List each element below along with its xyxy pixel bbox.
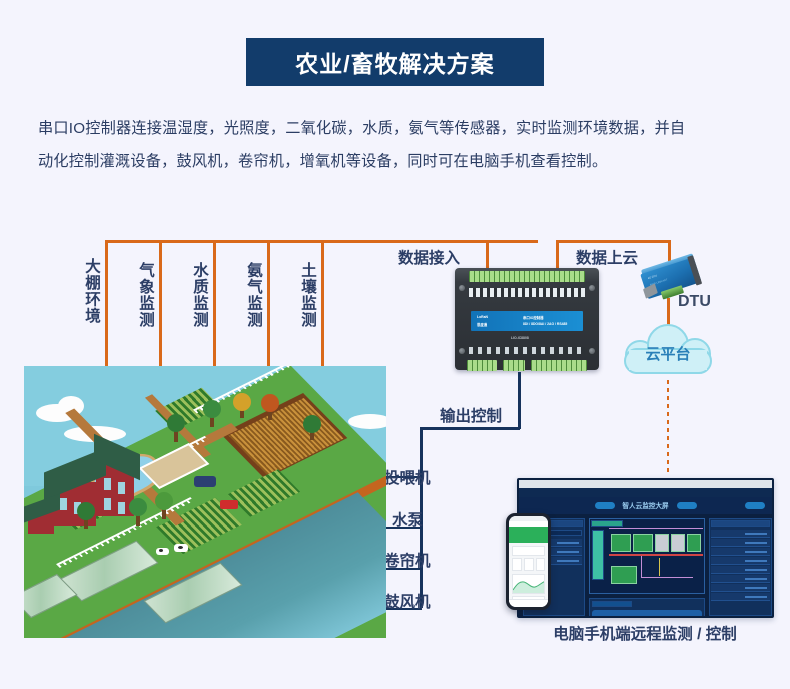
- data-access-text: 数据接入: [398, 250, 460, 267]
- scada-tank-1: [611, 534, 631, 552]
- output-control-line-vertical: [518, 372, 521, 401]
- controller-panel-sub: 8DI / 8DO/8AI / 2AO / RS485: [523, 322, 567, 326]
- dashboard-nav-pill-1[interactable]: [595, 502, 615, 509]
- terminal-block-bottom-right: [531, 360, 587, 371]
- cow-2-spot: [178, 546, 183, 549]
- blower-text: 鼓风机: [384, 594, 431, 611]
- data-access-riser: [336, 240, 339, 243]
- scada-toolbar: [591, 520, 623, 527]
- terminal-block-top: [469, 271, 585, 282]
- dashboard-alarm-row[interactable]: [711, 539, 770, 547]
- page-title-banner: 农业/畜牧解决方案: [246, 38, 544, 86]
- farm-illustration: [24, 366, 386, 638]
- output-control-line-corner-v: [518, 401, 521, 429]
- phone-metric-card: [512, 558, 522, 571]
- terminal-block-bottom-mid: [503, 360, 525, 371]
- intro-line-2: 动化控制灌溉设备，鼓风机，卷帘机，增氧机等设备，同时可在电脑手机查看控制。: [38, 145, 760, 178]
- dashboard-alarm-row[interactable]: [711, 575, 770, 583]
- intro-line-1: 串口IO控制器连接温湿度，光照度，二氧化碳，水质，氨气等传感器，实时监测环境数据…: [38, 112, 760, 145]
- scada-pipe-purple-1: [609, 528, 703, 529]
- dashboard-alarm-row[interactable]: [711, 548, 770, 556]
- tree-top-4: [261, 394, 279, 412]
- label-output-control: 输出控制: [440, 404, 502, 426]
- led-indicator-row: [469, 288, 585, 297]
- controller-model: LIO-IC8808: [511, 336, 529, 340]
- label-data-to-cloud: 数据上云: [576, 246, 638, 268]
- dashboard-right-panel-header: [711, 520, 770, 527]
- scada-tank-pond: [611, 566, 637, 584]
- phone-screen: [509, 516, 548, 607]
- mounting-screw-top-right: [589, 285, 595, 291]
- data-to-cloud-text: 数据上云: [576, 250, 638, 267]
- sensor-label-text: 水质监测: [191, 262, 208, 328]
- led-indicator-row-bottom: [469, 347, 585, 354]
- sidebar-item-water-quality-monitoring[interactable]: 水质监测: [190, 262, 209, 367]
- mobile-phone-device[interactable]: [506, 513, 551, 610]
- dashboard-alarm-row[interactable]: [711, 566, 770, 574]
- farmhouse-window-1: [60, 498, 67, 510]
- phone-area-chart-svg: [513, 575, 545, 594]
- dtu-body-text: 4G DTU: [648, 274, 658, 280]
- roller-blind-text: 卷帘机: [384, 553, 431, 570]
- sensor-label-text: 氨气监测: [245, 262, 262, 328]
- scada-pipe-yellow: [659, 558, 660, 576]
- dashboard-alarm-row[interactable]: [711, 593, 770, 601]
- tree-top-7: [155, 492, 173, 510]
- output-control-text: 输出控制: [440, 408, 502, 425]
- dtu-label-text: DTU: [678, 293, 711, 310]
- cow-1-spot: [159, 549, 163, 552]
- browser-url-bar: [519, 488, 772, 497]
- scada-tank-4: [671, 534, 685, 552]
- scada-tank-2: [633, 534, 653, 552]
- controller-brand-cn: 思度通: [477, 322, 487, 327]
- intro-paragraph: 串口IO控制器连接温湿度，光照度，二氧化碳，水质，氨气等传感器，实时监测环境数据…: [38, 112, 760, 178]
- phone-info-card: [512, 546, 545, 556]
- dashboard-alarm-row[interactable]: [711, 584, 770, 592]
- phone-app-header: [509, 527, 548, 543]
- dashboard-bottom-toolbar[interactable]: [592, 601, 632, 607]
- phone-metric-card: [524, 558, 534, 571]
- scada-pipe-purple-2: [641, 556, 642, 578]
- sensor-label-text: 气象监测: [137, 262, 154, 328]
- label-blower[interactable]: 鼓风机: [384, 590, 431, 612]
- data-access-line-horizontal: [378, 240, 538, 243]
- tractor: [220, 500, 238, 509]
- sidebar-item-weather-monitoring[interactable]: 气象监测: [136, 262, 155, 367]
- car-parked: [194, 476, 216, 487]
- mounting-screw-top-left: [459, 285, 465, 291]
- water-pump-text: 水泵: [392, 512, 423, 529]
- label-water-pump[interactable]: 水泵: [392, 508, 423, 530]
- farmhouse-window-4: [118, 482, 125, 494]
- phone-metric-card: [536, 558, 545, 571]
- cloud-to-monitor-dotted-line: [667, 380, 669, 476]
- dashboard-alarm-row[interactable]: [711, 530, 770, 538]
- scada-pipe-purple-3: [641, 577, 693, 578]
- phone-trend-chart: [512, 574, 545, 594]
- tree-top-1: [167, 414, 185, 432]
- scada-pipe-red: [609, 554, 703, 556]
- terminal-block-bottom-left: [467, 360, 497, 371]
- page-title: 农业/畜牧解决方案: [295, 45, 494, 79]
- label-data-access: 数据接入: [398, 246, 460, 268]
- sensor-label-text: 土壤监测: [299, 262, 316, 328]
- farmhouse-window-5: [104, 498, 111, 510]
- label-feeder[interactable]: 投喂机: [384, 466, 431, 488]
- cloud-platform-shape[interactable]: 云平台: [621, 322, 715, 378]
- dashboard-nav-pill-3[interactable]: [745, 502, 765, 509]
- output-control-line-corner-h: [420, 427, 520, 430]
- dashboard-monitor[interactable]: 智人云监控大屏: [517, 478, 774, 618]
- tree-top-6: [129, 498, 147, 516]
- dashboard-scada-panel: [589, 518, 705, 594]
- label-roller-blind[interactable]: 卷帘机: [384, 549, 431, 571]
- dashboard-bottom-chart: [592, 610, 702, 617]
- label-dtu: DTU: [678, 293, 711, 311]
- tree-top-5: [77, 502, 95, 520]
- feeder-text: 投喂机: [384, 470, 431, 487]
- farmhouse-window-3: [104, 478, 111, 490]
- scada-side-buttons[interactable]: [592, 530, 604, 580]
- browser-tab-bar: [519, 480, 772, 488]
- controller-panel-title: 串口IO控制器: [523, 315, 544, 320]
- phone-tab-bar[interactable]: [509, 599, 548, 607]
- sidebar-item-ammonia-monitoring[interactable]: 氨气监测: [244, 262, 263, 367]
- scada-tank-3: [655, 534, 669, 552]
- dashboard-alarm-row[interactable]: [711, 557, 770, 565]
- mounting-screw-bottom-right: [589, 348, 595, 354]
- scada-tank-5: [687, 534, 701, 552]
- dashboard-nav-pill-2[interactable]: [677, 502, 697, 509]
- cloud-shape-6: [348, 414, 386, 429]
- tree-top-3: [233, 393, 251, 411]
- sensor-label-text: 大棚环境: [83, 258, 100, 324]
- io-controller-device[interactable]: LoRaN 思度通 串口IO控制器 8DI / 8DO/8AI / 2AO / …: [455, 268, 599, 370]
- sidebar-item-greenhouse-environment[interactable]: 大棚环境: [82, 258, 101, 363]
- dashboard-title: 智人云监控大屏: [622, 500, 668, 510]
- controller-brand: LoRaN: [477, 315, 488, 319]
- tree-top-2: [203, 400, 221, 418]
- tree-top-8: [303, 415, 321, 433]
- cloud-platform-label: 云平台: [621, 343, 715, 364]
- sidebar-item-soil-monitoring[interactable]: 土壤监测: [298, 262, 317, 367]
- mounting-screw-bottom-left: [459, 348, 465, 354]
- farmhouse-window-6: [118, 502, 125, 514]
- controller-label-panel: LoRaN 思度通 串口IO控制器 8DI / 8DO/8AI / 2AO / …: [471, 311, 583, 331]
- data-cloud-line-horizontal: [556, 240, 670, 243]
- monitor-caption: 电脑手机端远程监测 / 控制: [520, 622, 770, 644]
- sensor-manifold-horizontal: [105, 240, 380, 243]
